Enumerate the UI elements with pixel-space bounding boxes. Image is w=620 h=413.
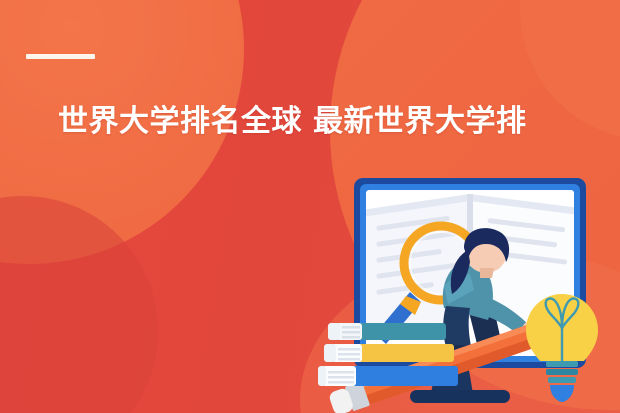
accent-rule	[26, 54, 95, 59]
lightbulb-icon	[526, 294, 598, 402]
stacked-books-icon	[318, 323, 458, 386]
hero-illustration	[318, 168, 620, 413]
page-title: 世界大学排名全球 最新世界大学排	[58, 104, 620, 140]
promo-banner: 世界大学排名全球 最新世界大学排	[0, 0, 620, 413]
